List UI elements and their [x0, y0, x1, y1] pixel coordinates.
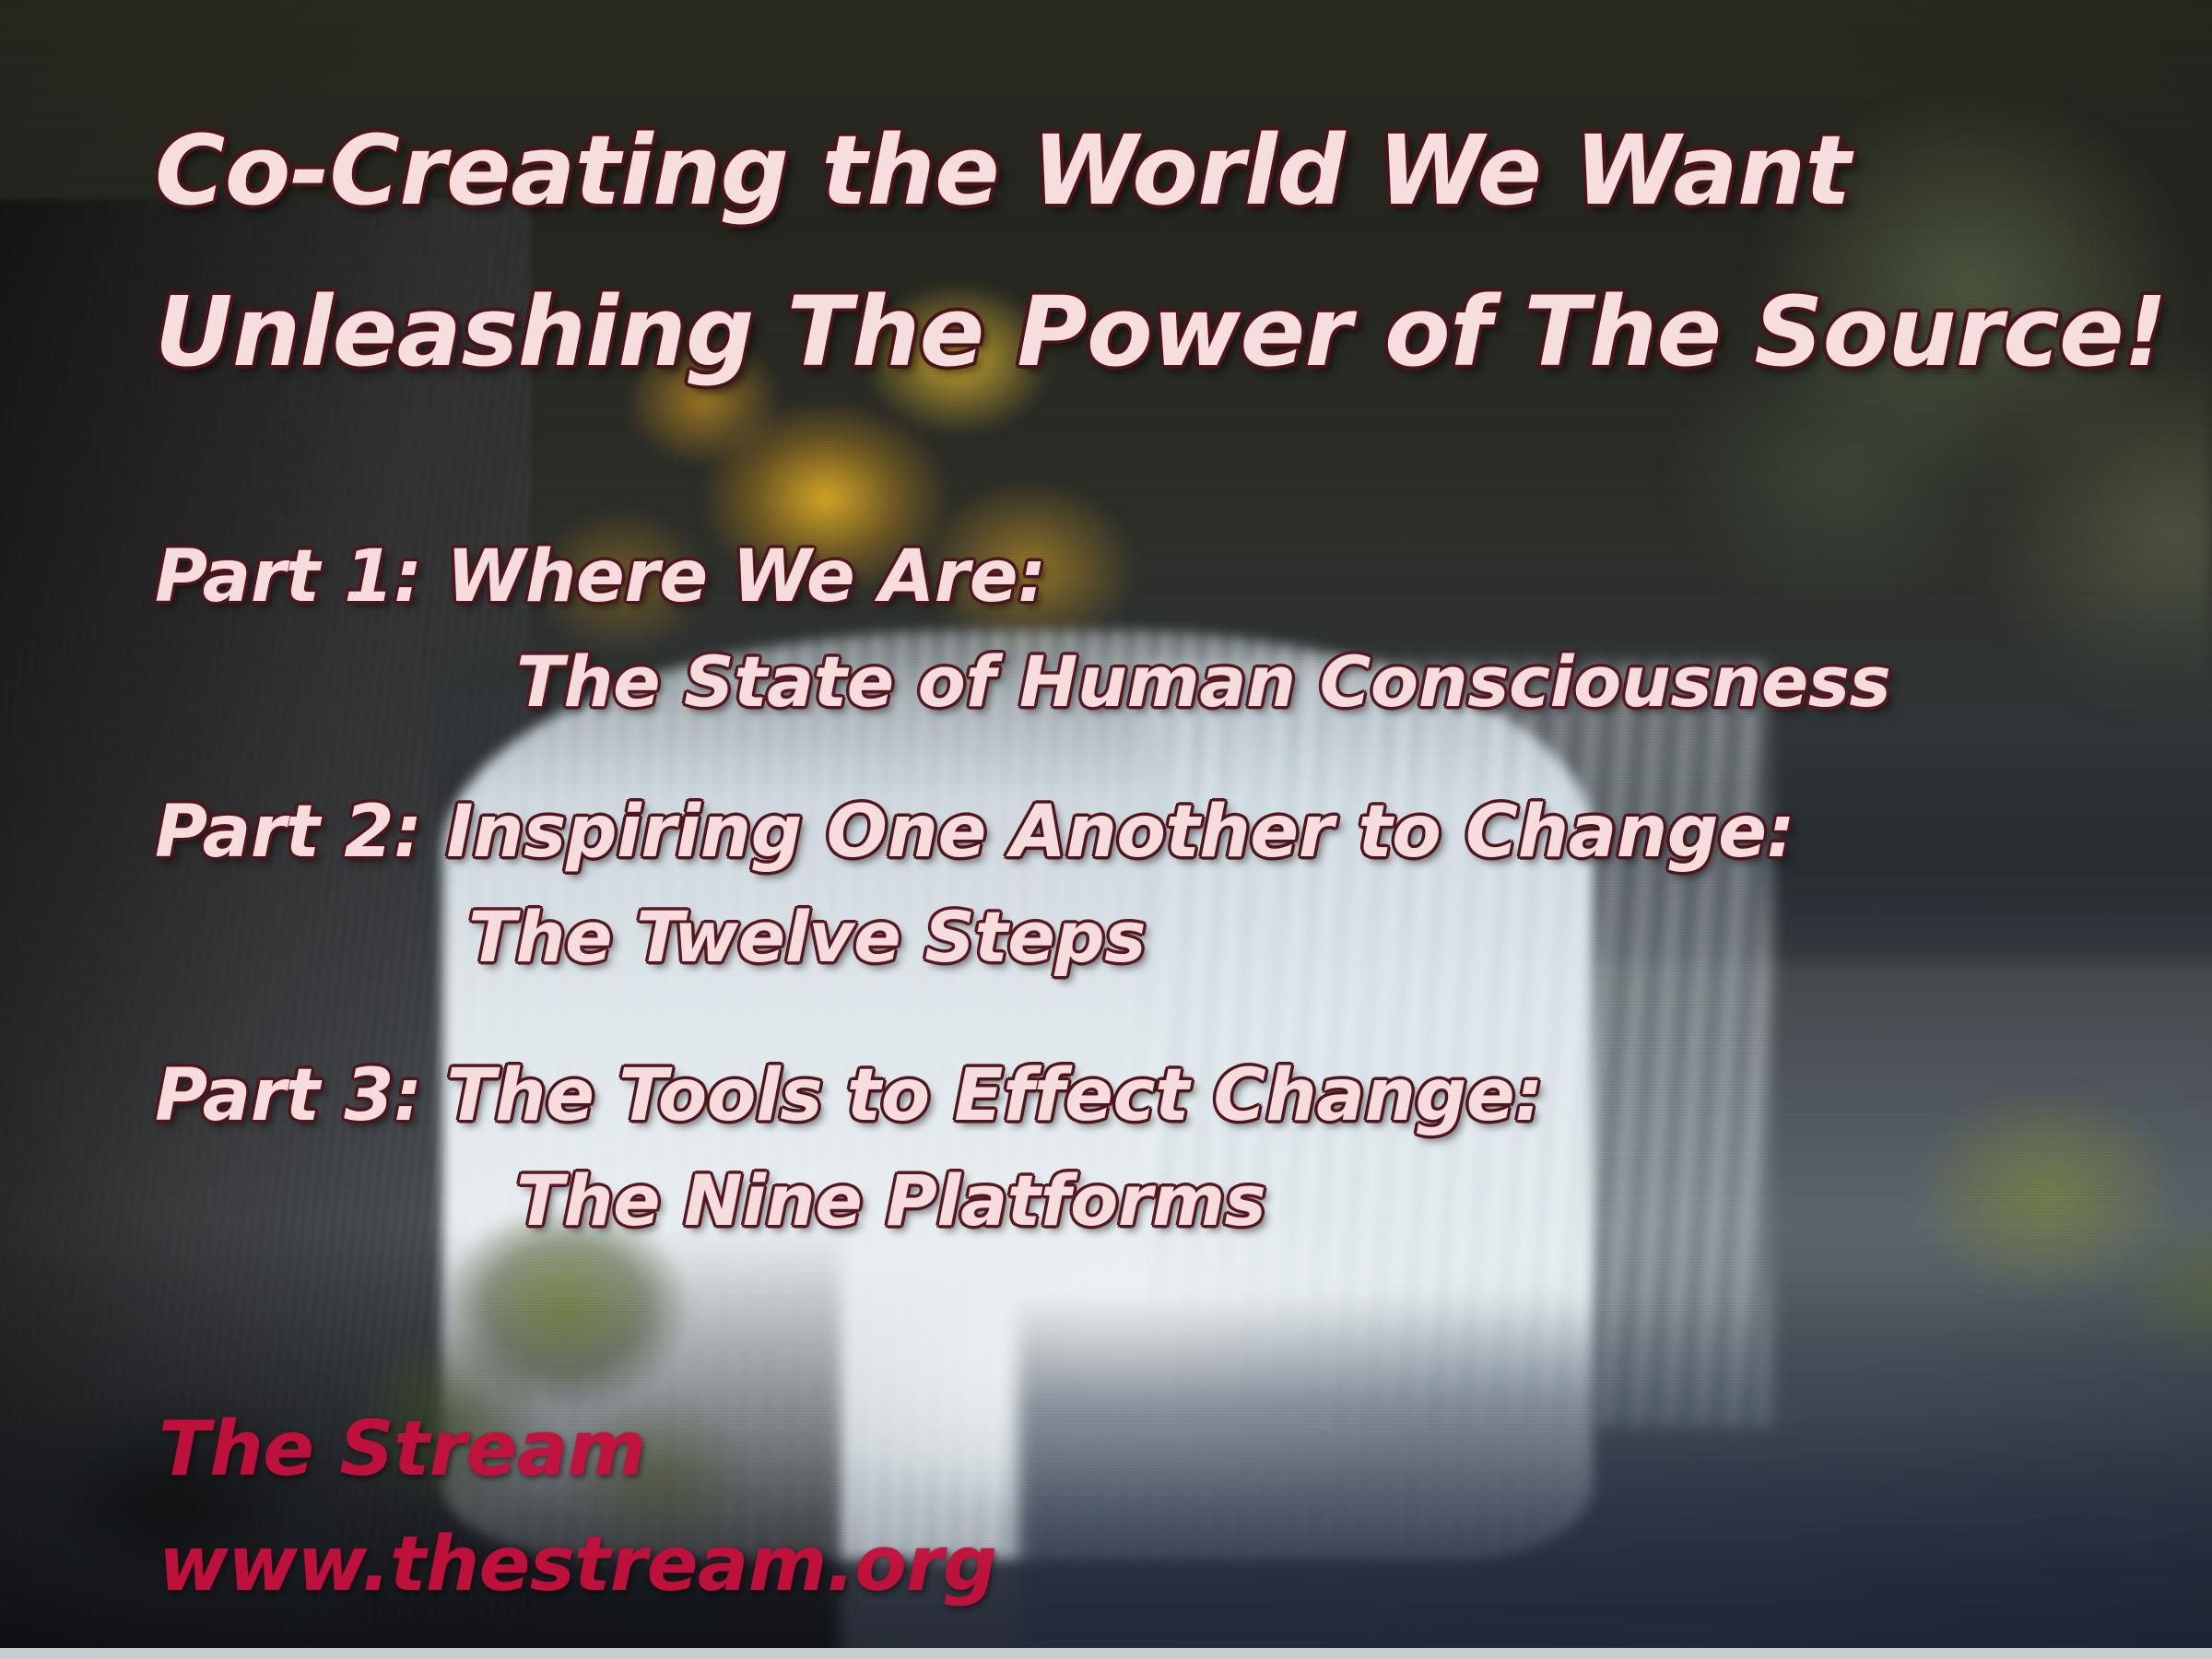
- part-3-heading: Part 3: The Tools to Effect Change:: [155, 1058, 1543, 1135]
- part-2-subheading: The Twelve Steps: [468, 900, 1146, 975]
- text-overlay: Co-Creating the World We Want Unleashing…: [0, 0, 2212, 1659]
- part-3-subheading: The Nine Platforms: [516, 1164, 1265, 1239]
- brand-name: The Stream: [159, 1410, 646, 1488]
- slide-canvas: Co-Creating the World We Want Unleashing…: [0, 0, 2212, 1659]
- slide-title-line-1: Co-Creating the World We Want: [155, 120, 1851, 221]
- brand-url[interactable]: www.thestream.org: [159, 1525, 996, 1604]
- part-2-heading: Part 2: Inspiring One Another to Change:: [155, 794, 1794, 871]
- part-1-heading: Part 1: Where We Are:: [155, 539, 1046, 616]
- slide-title-line-2: Unleashing The Power of The Source!: [155, 281, 2167, 382]
- bottom-letterbox-bar: [0, 1648, 2212, 1659]
- part-1-subheading: The State of Human Consciousness: [516, 645, 1890, 720]
